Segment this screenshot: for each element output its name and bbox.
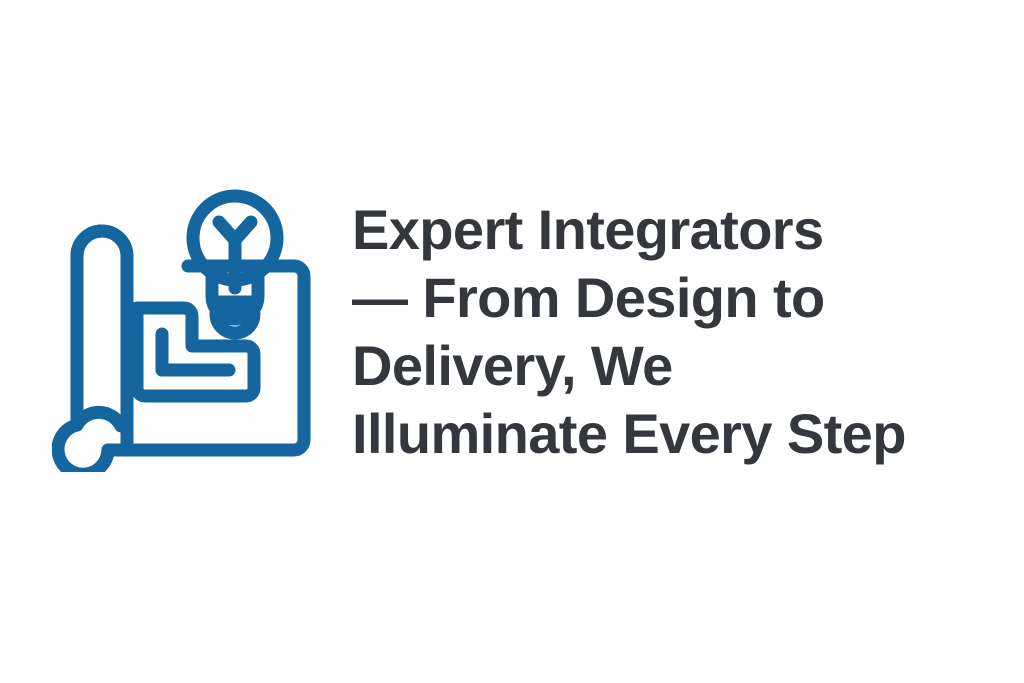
headline-block: Expert Integrators — From Design to Deli…: [352, 196, 1000, 468]
blueprint-lightbulb-svg: [52, 188, 314, 472]
scroll-bottom-curl: [58, 425, 108, 472]
headline-line-1: Expert Integrators: [352, 196, 1000, 264]
banner-root: Expert Integrators — From Design to Deli…: [0, 0, 1024, 683]
scroll-inner-roll: [77, 412, 121, 426]
headline-line-4: Illuminate Every Step: [352, 400, 1000, 468]
headline-line-3: Delivery, We: [352, 332, 1000, 400]
blueprint-lightbulb-icon: [52, 188, 314, 472]
page-title: Expert Integrators — From Design to Deli…: [352, 196, 1000, 468]
headline-line-2: — From Design to: [352, 264, 1000, 332]
